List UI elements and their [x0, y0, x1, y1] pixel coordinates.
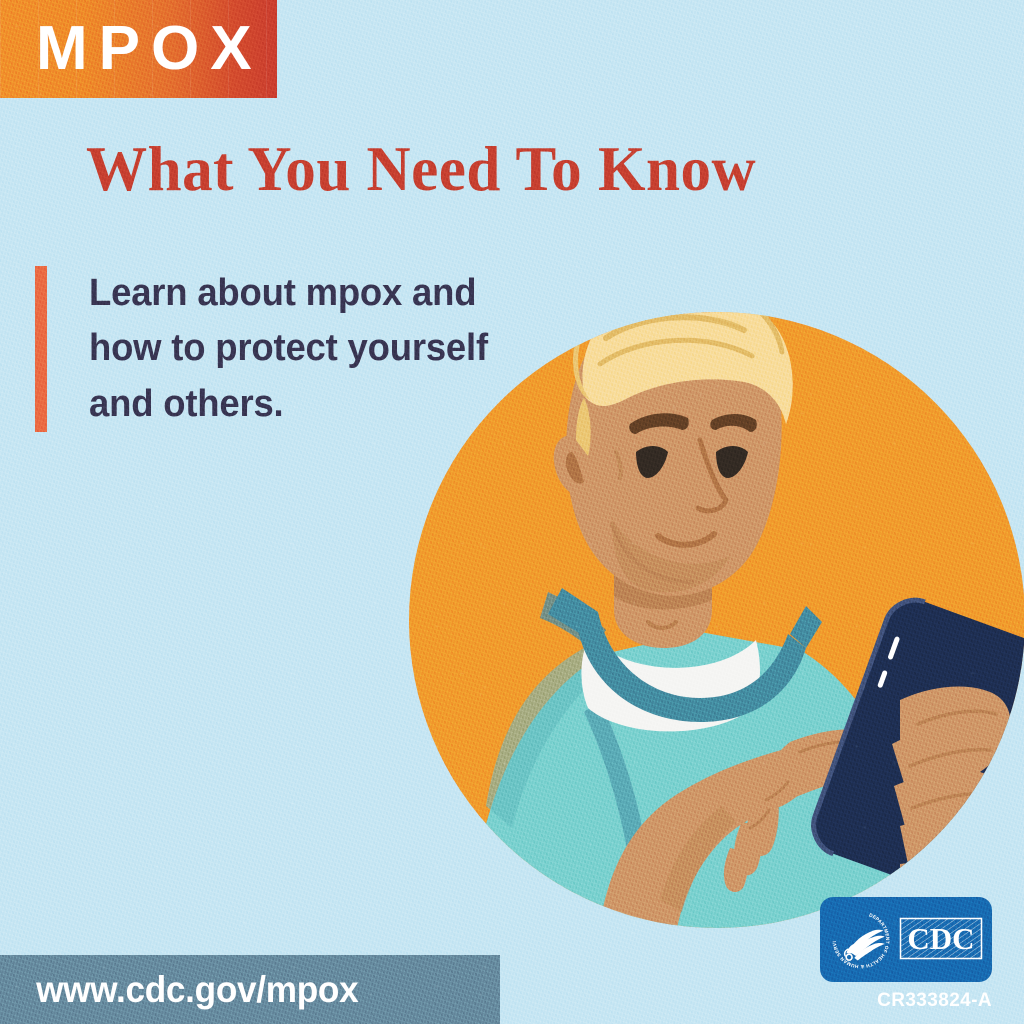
- cdc-wordmark: CDC: [898, 915, 984, 965]
- website-url[interactable]: www.cdc.gov/mpox: [0, 969, 358, 1011]
- mpox-banner: MPOX: [0, 0, 277, 98]
- hhs-seal-icon: DEPARTMENT OF HEALTH & HUMAN SERVICES US…: [828, 907, 894, 973]
- mpox-wordmark: MPOX: [0, 18, 263, 80]
- subhead-block: Learn about mpox and how to protect your…: [35, 266, 505, 432]
- accent-rule: [35, 266, 47, 432]
- subhead-text: Learn about mpox and how to protect your…: [89, 266, 488, 432]
- cdc-hhs-logo: DEPARTMENT OF HEALTH & HUMAN SERVICES US…: [820, 897, 992, 982]
- page-title: What You Need To Know: [86, 136, 920, 203]
- poster-canvas: MPOX What You Need To Know Learn about m…: [0, 0, 1024, 1024]
- svg-text:CDC: CDC: [907, 921, 974, 956]
- catalog-number: CR333824-A: [820, 990, 992, 1012]
- url-bar[interactable]: www.cdc.gov/mpox: [0, 955, 500, 1024]
